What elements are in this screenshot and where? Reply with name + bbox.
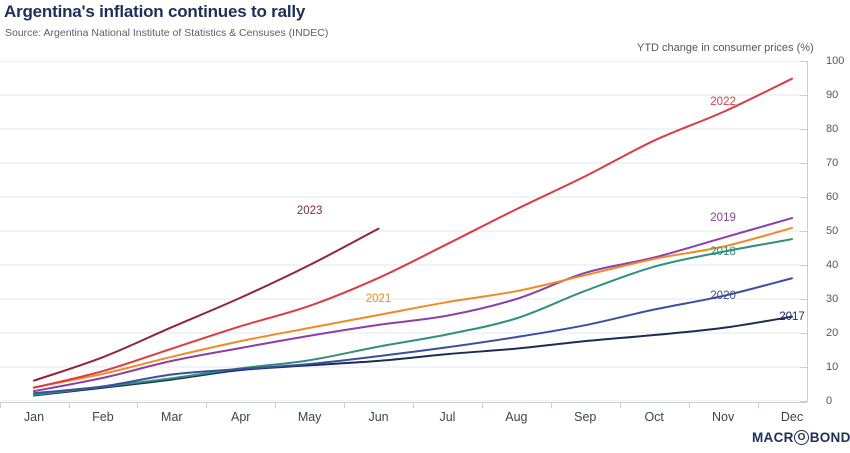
- series-label-2018: 2018: [710, 246, 736, 258]
- x-tick-label-jul: Jul: [439, 410, 455, 424]
- x-tickmark: [620, 402, 621, 408]
- series-line-2020: [34, 278, 792, 393]
- x-tickmark: [758, 402, 759, 408]
- series-label-2019: 2019: [710, 212, 736, 224]
- y-tickmark: [800, 299, 807, 300]
- y-tickmark: [800, 163, 807, 164]
- x-tick-label-apr: Apr: [231, 410, 250, 424]
- logo-circle-o: O: [794, 430, 809, 445]
- y-tickmark: [800, 61, 807, 62]
- y-tickmark: [800, 333, 807, 334]
- series-label-2020: 2020: [710, 290, 736, 302]
- chart-source: Source: Argentina National Institute of …: [5, 27, 328, 39]
- y-tickmark: [800, 367, 807, 368]
- macrobond-logo: MACROBOND: [752, 430, 850, 445]
- y-tick-label: 40: [826, 259, 850, 271]
- x-tickmark: [689, 402, 690, 408]
- y-tickmark: [800, 265, 807, 266]
- x-tick-label-feb: Feb: [92, 410, 114, 424]
- y-tickmark: [800, 197, 807, 198]
- y-tick-label: 20: [826, 327, 850, 339]
- y-tick-label: 50: [826, 225, 850, 237]
- x-tick-label-dec: Dec: [781, 410, 803, 424]
- x-tick-label-jan: Jan: [24, 410, 44, 424]
- x-axis-labels: JanFebMarAprMayJunJulAugSepOctNovDec: [0, 410, 800, 432]
- y-tickmark: [800, 95, 807, 96]
- y-axis-title: YTD change in consumer prices (%): [637, 42, 814, 54]
- y-tick-label: 30: [826, 293, 850, 305]
- x-tick-label-nov: Nov: [712, 410, 734, 424]
- x-tickmark: [344, 402, 345, 408]
- line-chart-svg: [0, 61, 800, 401]
- x-tick-label-mar: Mar: [161, 410, 183, 424]
- x-axis-line: [0, 402, 807, 403]
- x-tickmark: [413, 402, 414, 408]
- y-tick-label: 100: [826, 55, 850, 67]
- x-tick-label-sep: Sep: [574, 410, 596, 424]
- x-tickmark: [137, 402, 138, 408]
- y-axis-line: [807, 61, 808, 402]
- x-tick-label-aug: Aug: [505, 410, 527, 424]
- y-tickmark: [800, 231, 807, 232]
- page-title: Argentina's inflation continues to rally: [4, 2, 305, 22]
- y-tickmark: [800, 401, 807, 402]
- chart-page: Argentina's inflation continues to rally…: [0, 0, 850, 453]
- series-line-2018: [34, 239, 792, 395]
- series-label-2021: 2021: [366, 293, 392, 305]
- x-tickmark: [206, 402, 207, 408]
- y-tick-label: 70: [826, 157, 850, 169]
- plot-area: [0, 61, 800, 401]
- x-tick-label-jun: Jun: [368, 410, 388, 424]
- y-tick-label: 10: [826, 361, 850, 373]
- logo-text-part1: MACR: [752, 430, 794, 445]
- y-tick-label: 60: [826, 191, 850, 203]
- y-tick-label: 80: [826, 123, 850, 135]
- x-tickmark: [551, 402, 552, 408]
- x-tickmark: [482, 402, 483, 408]
- x-tickmark: [275, 402, 276, 408]
- x-tickmark: [69, 402, 70, 408]
- x-tick-label-oct: Oct: [644, 410, 663, 424]
- x-tick-label-may: May: [298, 410, 322, 424]
- series-label-2023: 2023: [297, 205, 323, 217]
- y-tickmark: [800, 129, 807, 130]
- y-tick-label: 90: [826, 89, 850, 101]
- series-label-2022: 2022: [710, 96, 736, 108]
- x-tickmark: [0, 402, 1, 408]
- series-label-2017: 2017: [779, 311, 805, 323]
- y-tick-label: 0: [826, 395, 850, 407]
- logo-text-part2: BOND: [810, 430, 850, 445]
